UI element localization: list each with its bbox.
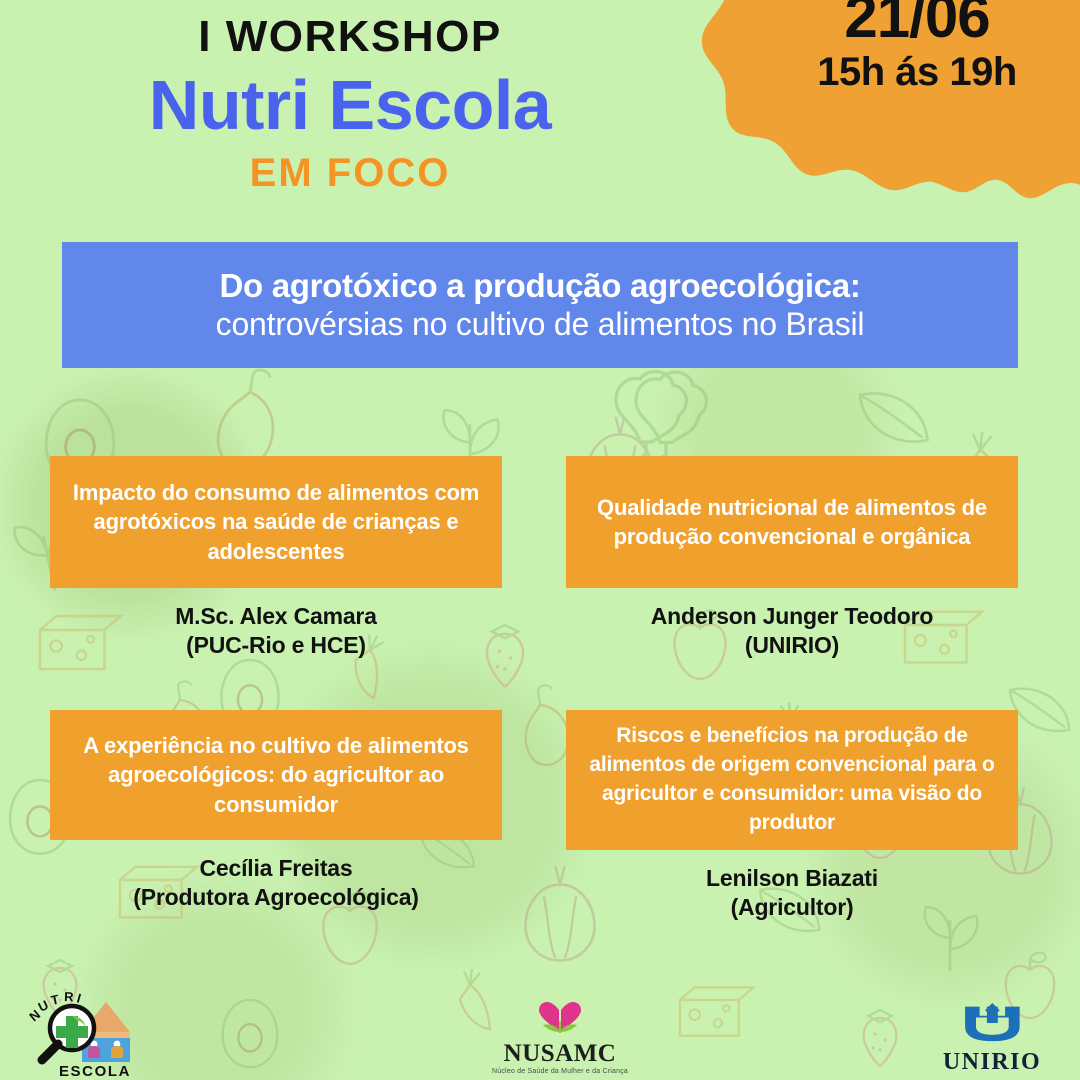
topic-title-box: Impacto do consumo de alimentos com agro… (50, 456, 502, 588)
speaker-affiliation: (Agricultor) (566, 893, 1018, 922)
topic-title-box: Riscos e benefícios na produção de alime… (566, 710, 1018, 850)
unirio-logo: UNIRIO (932, 1003, 1052, 1074)
event-poster: 21/06 15h ás 19h I WORKSHOP Nutri Escola… (0, 0, 1080, 1080)
topic-speaker: Anderson Junger Teodoro (UNIRIO) (566, 602, 1018, 661)
nutri-escola-logo: N U T R I ESCOLA (20, 986, 170, 1078)
brand-subtitle: EM FOCO (0, 151, 700, 195)
event-date: 21/06 (752, 0, 1080, 47)
speaker-name: M.Sc. Alex Camara (50, 602, 502, 631)
topic-speaker: M.Sc. Alex Camara (PUC-Rio e HCE) (50, 602, 502, 661)
date-badge-text: 21/06 15h ás 19h (752, 0, 1080, 95)
speaker-name: Anderson Junger Teodoro (566, 602, 1018, 631)
topic-speaker: Cecília Freitas (Produtora Agroecológica… (50, 854, 502, 913)
unirio-name: UNIRIO (932, 1050, 1052, 1074)
topic-title: A experiência no cultivo de alimentos ag… (64, 731, 488, 819)
topic-title-box: A experiência no cultivo de alimentos ag… (50, 710, 502, 840)
topic-card: Qualidade nutricional de alimentos de pr… (566, 456, 1018, 661)
topic-card: Impacto do consumo de alimentos com agro… (50, 456, 502, 661)
footer-logos: N U T R I ESCOLA NUSAMC Núcleo de Saúde (0, 984, 1080, 1080)
page-title: Nutri Escola (0, 66, 700, 144)
nusamc-tagline: Núcleo de Saúde da Mulher e da Criança (470, 1068, 650, 1076)
svg-text:R: R (64, 989, 75, 1004)
nusamc-name: NUSAMC (470, 1041, 650, 1066)
event-hours: 15h ás 19h (752, 49, 1080, 95)
topic-card: A experiência no cultivo de alimentos ag… (50, 710, 502, 913)
speaker-affiliation: (Produtora Agroecológica) (50, 883, 502, 912)
svg-text:T: T (50, 992, 61, 1008)
banner-subheadline: controvérsias no cultivo de alimentos no… (216, 306, 865, 342)
svg-text:U: U (36, 997, 51, 1015)
nutri-escola-bottom-word: ESCOLA (59, 1063, 131, 1078)
speaker-affiliation: (UNIRIO) (566, 631, 1018, 660)
topic-title: Riscos e benefícios na produção de alime… (580, 722, 1004, 838)
speaker-affiliation: (PUC-Rio e HCE) (50, 631, 502, 660)
nusamc-logo: NUSAMC Núcleo de Saúde da Mulher e da Cr… (470, 999, 650, 1076)
workshop-label: I WORKSHOP (0, 14, 700, 60)
topic-title: Impacto do consumo de alimentos com agro… (64, 478, 488, 566)
speaker-name: Lenilson Biazati (566, 864, 1018, 893)
topic-title-box: Qualidade nutricional de alimentos de pr… (566, 456, 1018, 588)
topic-card: Riscos e benefícios na produção de alime… (566, 710, 1018, 923)
banner-headline: Do agrotóxico a produção agroecológica: (219, 267, 860, 305)
svg-text:I: I (75, 990, 83, 1005)
poster-header: I WORKSHOP Nutri Escola EM FOCO (0, 14, 700, 195)
date-badge: 21/06 15h ás 19h (698, 0, 1080, 204)
topic-speaker: Lenilson Biazati (Agricultor) (566, 864, 1018, 923)
topic-title: Qualidade nutricional de alimentos de pr… (580, 493, 1004, 552)
main-theme-banner: Do agrotóxico a produção agroecológica: … (62, 242, 1018, 368)
unirio-emblem-icon (956, 1003, 1029, 1043)
speaker-name: Cecília Freitas (50, 854, 502, 883)
nusamc-heart-icon (525, 999, 595, 1035)
